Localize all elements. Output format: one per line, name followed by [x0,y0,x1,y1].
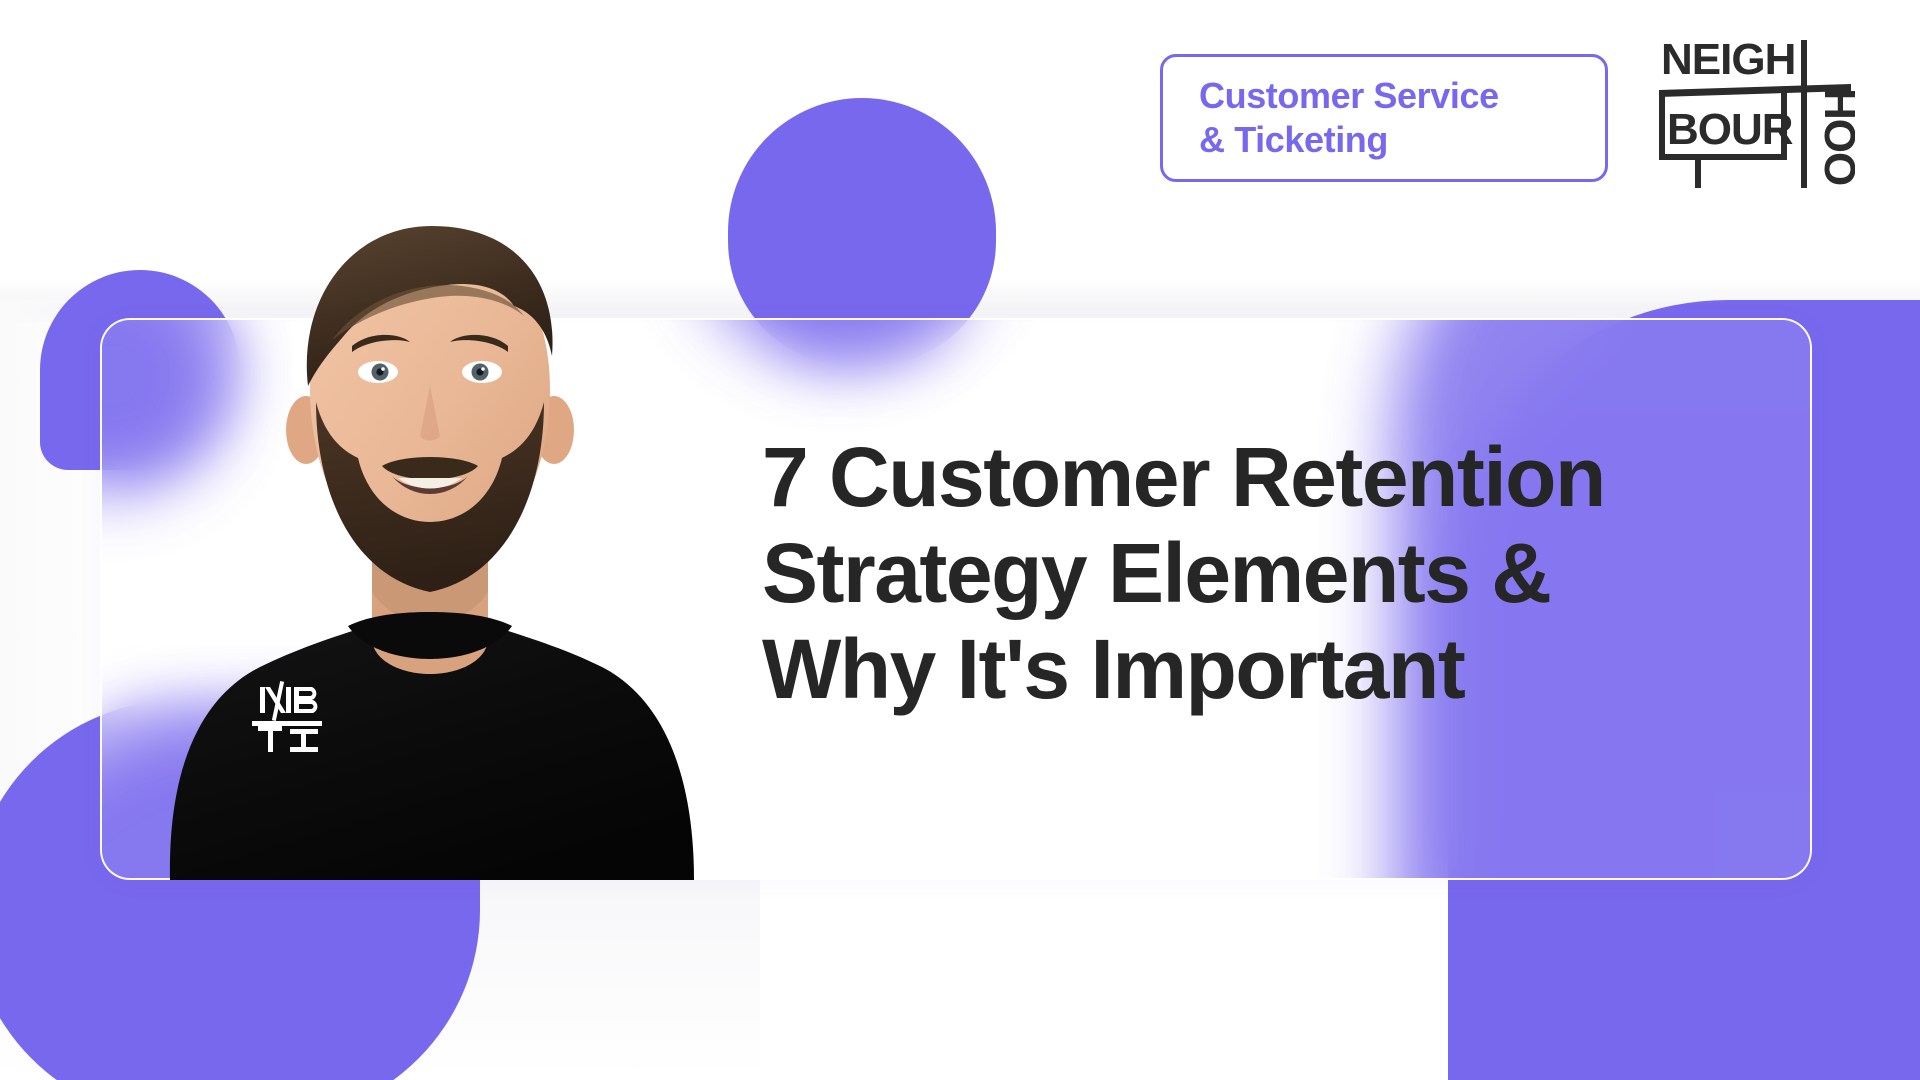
category-badge-label: Customer Service & Ticketing [1163,74,1499,162]
page-title: 7 Customer Retention Strategy Elements &… [762,430,1762,717]
category-badge[interactable]: Customer Service & Ticketing [1160,54,1608,182]
card-blur-left [100,318,222,490]
card-blur-bottom-left [100,720,582,880]
logo-word-bour: BOUR [1667,105,1793,154]
category-badge-line-2: & Ticketing [1199,118,1499,162]
card-blur-top [688,318,988,360]
neighbourhood-logo[interactable]: NEIGH BOUR HOOD [1655,28,1855,188]
logo-word-hood: HOOD [1815,88,1855,188]
headline-line-1: 7 Customer Retention [762,430,1762,526]
headline-line-2: Strategy Elements & [762,526,1762,622]
logo-word-neigh: NEIGH [1661,35,1795,84]
headline-line-3: Why It's Important [762,622,1762,718]
category-badge-line-1: Customer Service [1199,74,1499,118]
banner-canvas: 7 Customer Retention Strategy Elements &… [0,0,1920,1080]
